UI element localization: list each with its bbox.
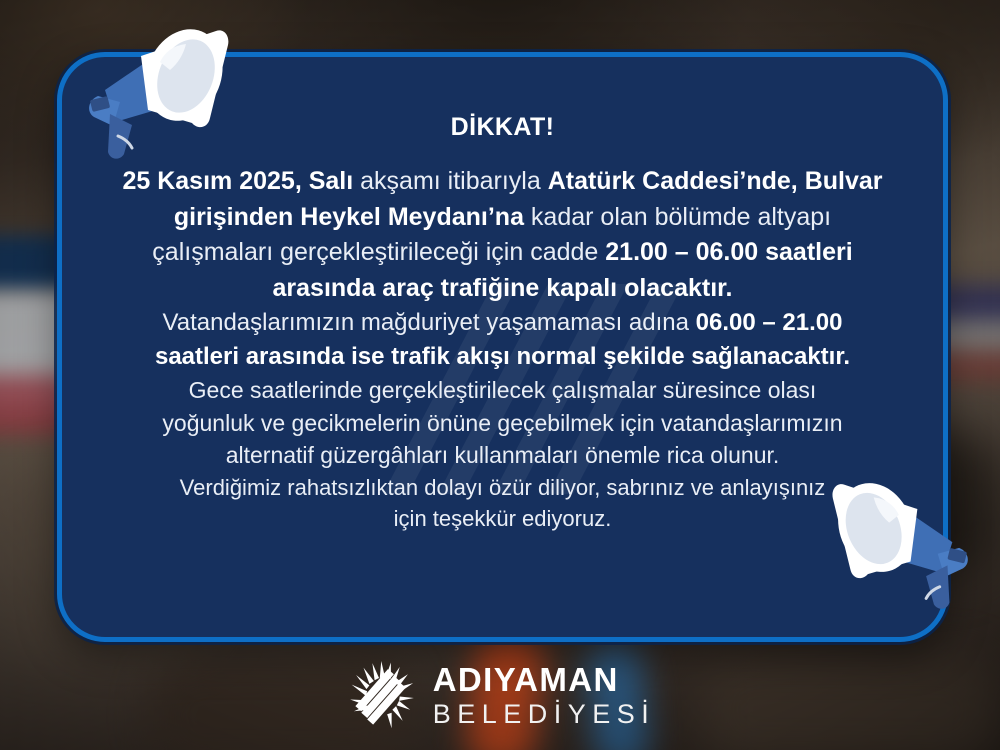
adiyaman-sunburst-emblem-icon	[345, 658, 419, 732]
announcement-poster: DİKKAT! 25 Kasım 2025, Salı akşamı itiba…	[0, 0, 1000, 750]
brand-wordmark: ADIYAMAN BELEDİYESİ	[433, 663, 656, 728]
emphasis-text: 25 Kasım 2025, Salı	[122, 167, 353, 195]
brand-name-line1: ADIYAMAN	[433, 663, 619, 696]
announcement-paragraph-1: 25 Kasım 2025, Salı akşamı itibarıyla At…	[106, 164, 899, 306]
normal-text: Verdiğimiz rahatsızlıktan dolayı özür di…	[180, 475, 826, 531]
megaphone-icon	[58, 18, 233, 168]
brand-name-line2: BELEDİYESİ	[433, 701, 656, 728]
normal-text: Vatandaşlarımızın mağduriyet yaşamaması …	[163, 309, 696, 336]
brand-logo: ADIYAMAN BELEDİYESİ	[0, 658, 1000, 732]
announcement-paragraph-2: Vatandaşlarımızın mağduriyet yaşamaması …	[106, 306, 899, 374]
announcement-paragraph-4: Verdiğimiz rahatsızlıktan dolayı özür di…	[106, 472, 899, 534]
normal-text: akşamı itibarıyla	[353, 167, 548, 195]
announcement-paragraph-3: Gece saatlerinde gerçekleştirilecek çalı…	[106, 374, 899, 472]
megaphone-icon	[828, 470, 998, 620]
normal-text: Gece saatlerinde gerçekleştirilecek çalı…	[162, 377, 842, 468]
